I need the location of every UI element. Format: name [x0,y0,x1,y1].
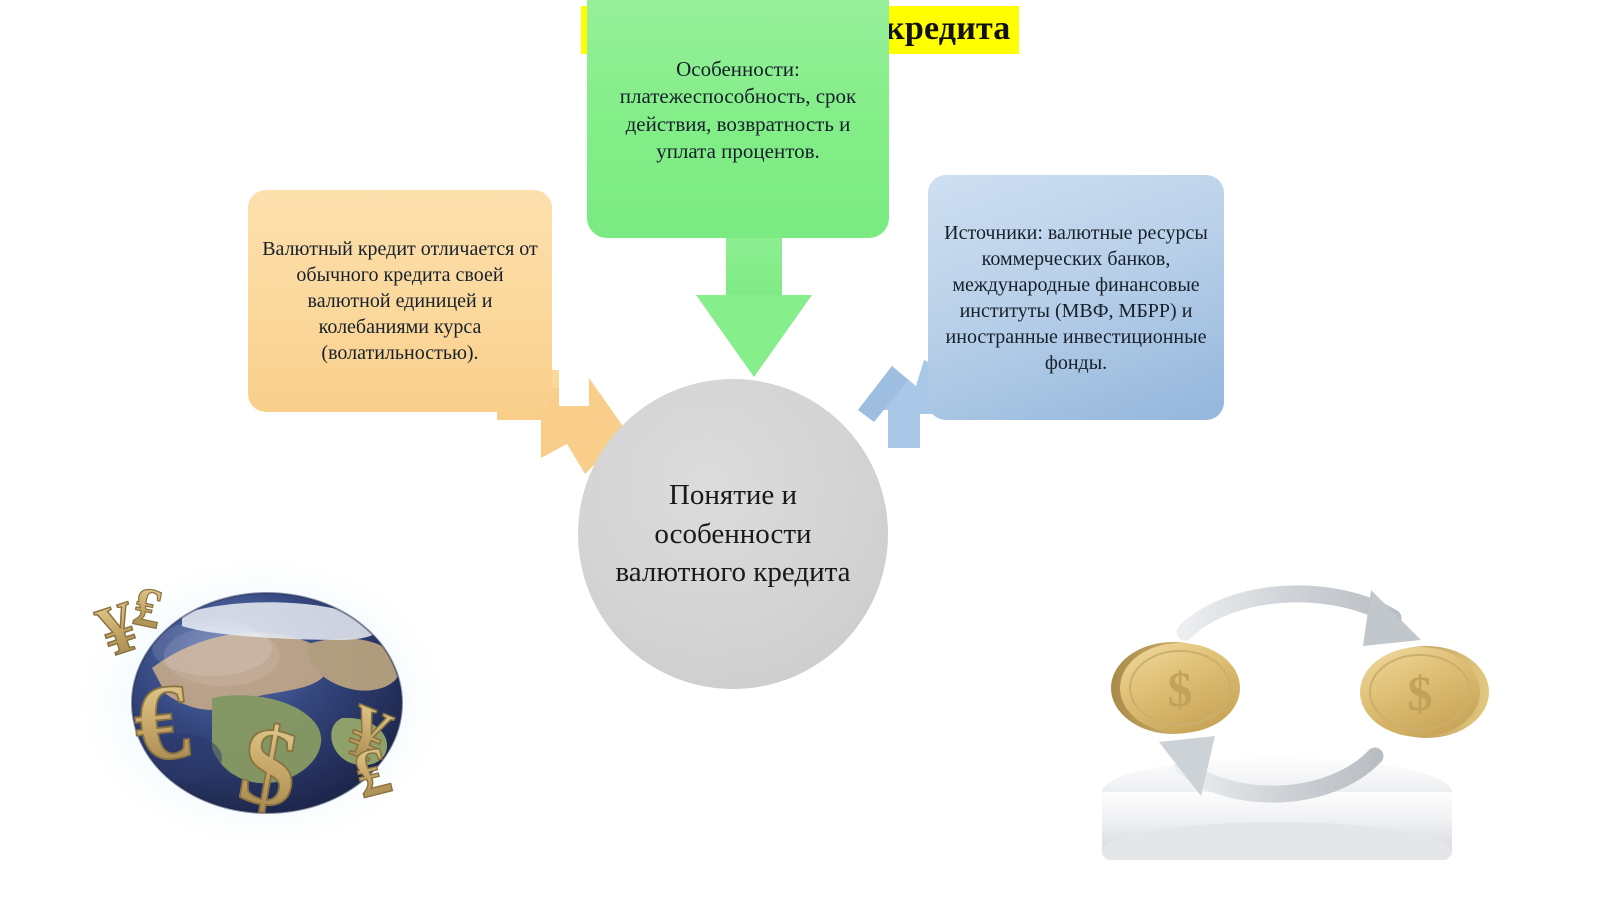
slide-canvas: Теоретичес отного кредита Особенности: п… [0,0,1600,899]
center-concept-circle[interactable]: Понятие и особенности валютного кредита [578,379,888,689]
callout-difference[interactable]: Валютный кредит отличается от обычного к… [248,190,552,412]
pedestal-shape [1102,758,1452,860]
callout-sources-text: Источники: валютные ресурсы коммерческих… [928,214,1224,382]
coin-left: $ [1111,642,1240,734]
arrow-green-head-icon [696,295,812,377]
svg-text:$: $ [1408,665,1433,721]
svg-text:$: $ [1168,661,1193,717]
coin-right: $ [1360,646,1489,738]
callout-features-text: Особенности: платежеспособность, срок де… [587,0,889,171]
center-concept-label: Понятие и особенности валютного кредита [578,476,888,593]
arrow-green-shaft [726,232,782,300]
exchange-arrow-top-icon [1185,590,1421,646]
callout-difference-text: Валютный кредит отличается от обычного к… [248,230,552,372]
callout-features[interactable]: Особенности: платежеспособность, срок де… [587,0,889,238]
callout-sources[interactable]: Источники: валютные ресурсы коммерческих… [928,175,1224,420]
currency-exchange-coins-image: $ $ [1035,560,1505,860]
globe-with-currency-symbols-image: ¥ ₤ € $ ¥ ₤ [62,548,462,878]
